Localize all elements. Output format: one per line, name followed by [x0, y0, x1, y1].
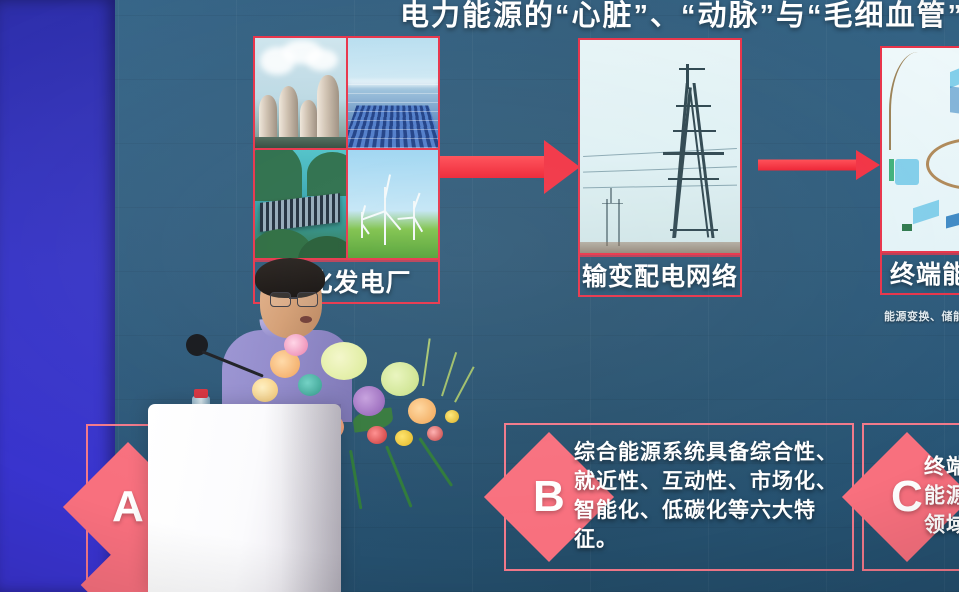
screenshot-stage: 电力能源的“心脏”、“动脉”与“毛细血管”	[0, 0, 959, 592]
scene-vignette	[0, 0, 959, 592]
